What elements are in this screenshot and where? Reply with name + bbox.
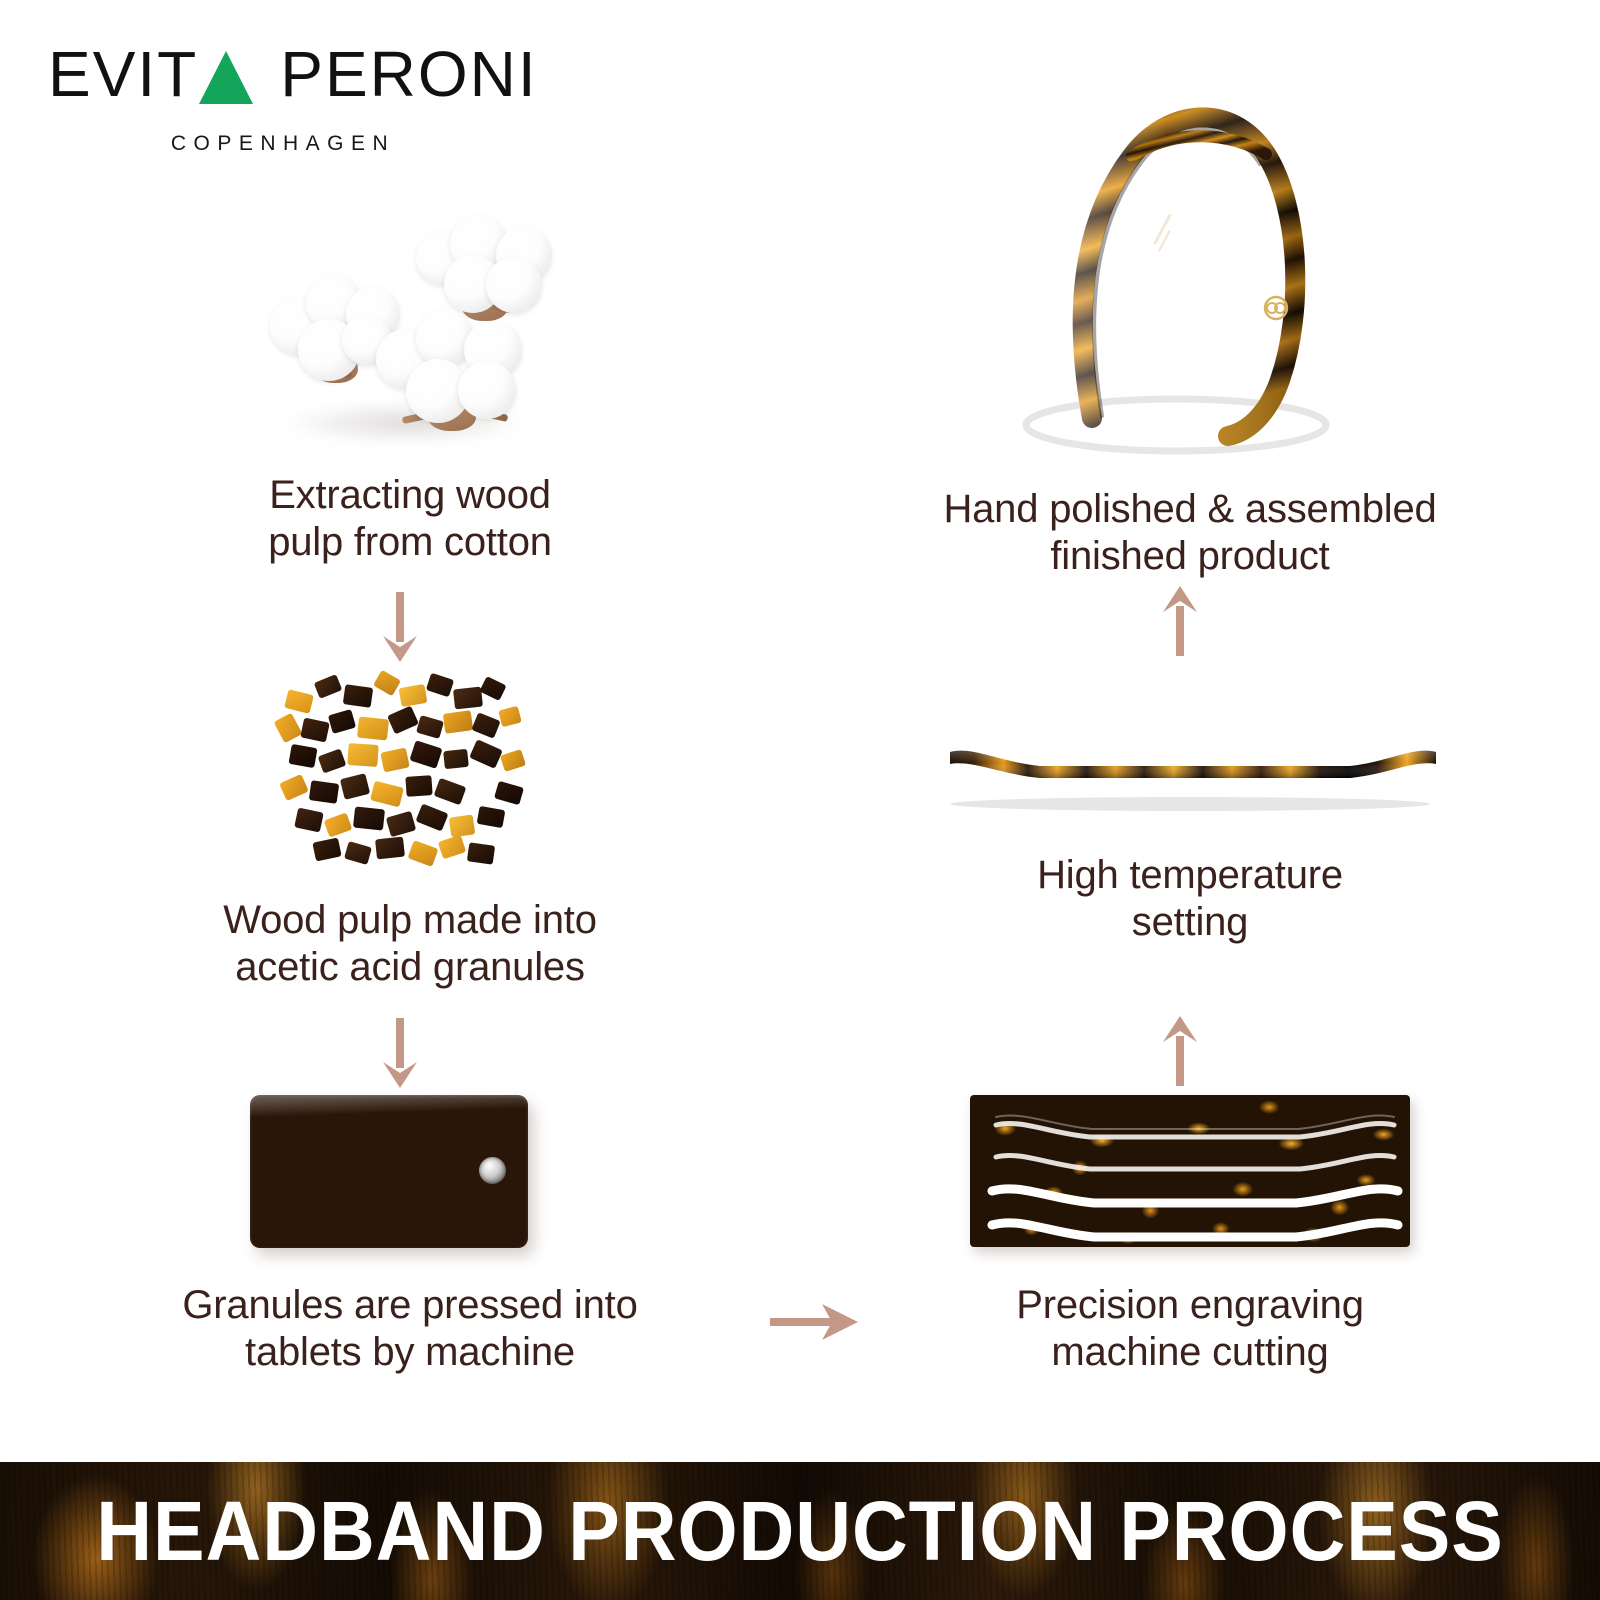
granule xyxy=(453,687,483,710)
headband-blank xyxy=(920,700,1460,820)
granule xyxy=(284,689,314,714)
flat-headband-blank-image xyxy=(920,700,1460,820)
step-5-high-temperature-setting: High temperature setting xyxy=(840,700,1540,946)
granule xyxy=(347,743,378,767)
step-2-caption: Wood pulp made into acetic acid granules xyxy=(60,897,760,991)
arrow-up-icon xyxy=(1158,1014,1202,1086)
step-4-caption: Precision engraving machine cutting xyxy=(840,1282,1540,1376)
granule xyxy=(300,718,330,743)
granule xyxy=(408,840,439,867)
arrow-1-to-2 xyxy=(378,592,422,669)
step-5-caption: High temperature setting xyxy=(840,852,1540,946)
cotton-bolls-image xyxy=(268,215,558,450)
step-3-pressed-tablets: Granules are pressed into tablets by mac… xyxy=(60,1095,760,1376)
granule xyxy=(426,673,454,698)
green-triangle-icon xyxy=(199,51,253,104)
granule xyxy=(328,709,356,734)
granule xyxy=(375,837,405,860)
granule xyxy=(312,838,341,862)
granule xyxy=(405,775,432,797)
step-2-acetic-acid-granules: Wood pulp made into acetic acid granules xyxy=(60,660,760,991)
engraved-mark xyxy=(1153,214,1172,253)
granule xyxy=(318,748,347,773)
finished-headband-image xyxy=(980,80,1400,470)
tortoise-tablet-image xyxy=(250,1095,528,1248)
granule xyxy=(471,712,500,739)
granule xyxy=(466,774,493,798)
granule xyxy=(494,781,524,805)
step-6-caption: Hand polished & assembled finished produ… xyxy=(840,486,1540,580)
granule xyxy=(434,778,467,805)
brand-wordmark: EVIT PERONI xyxy=(48,40,478,106)
granule xyxy=(344,841,372,865)
step-1-caption: Extracting wood pulp from cotton xyxy=(60,472,760,566)
granule xyxy=(353,806,385,830)
granule xyxy=(294,808,324,833)
cotton-boll xyxy=(376,307,536,435)
granule xyxy=(500,749,526,772)
granule xyxy=(279,774,309,801)
arrow-4-to-5 xyxy=(1158,1014,1202,1091)
granule xyxy=(386,811,417,837)
granule xyxy=(274,713,303,744)
arrow-2-to-3 xyxy=(378,1018,422,1095)
step-3-caption: Granules are pressed into tablets by mac… xyxy=(60,1282,760,1376)
arrow-down-icon xyxy=(378,1018,422,1090)
brand-medallion-icon xyxy=(1265,297,1287,319)
granule xyxy=(373,670,401,697)
granule xyxy=(469,739,503,769)
granule xyxy=(343,684,374,708)
granule xyxy=(449,814,476,837)
granule xyxy=(498,706,522,727)
granule xyxy=(415,803,448,831)
granule xyxy=(438,835,466,860)
brand-word-evit: EVIT xyxy=(48,42,198,106)
granule xyxy=(409,740,442,769)
arrow-5-to-6 xyxy=(1158,584,1202,661)
brand-tagline: COPENHAGEN xyxy=(48,132,478,156)
granule xyxy=(340,773,370,800)
bottom-banner: HEADBAND PRODUCTION PROCESS xyxy=(0,1462,1600,1600)
granule xyxy=(370,781,404,808)
step-1-extracting-wood-pulp: Extracting wood pulp from cotton xyxy=(60,215,760,566)
granule xyxy=(380,748,410,773)
brand-logo: EVIT PERONI COPENHAGEN xyxy=(48,40,478,156)
granule xyxy=(314,674,343,699)
granule xyxy=(479,676,506,701)
granule xyxy=(288,744,317,768)
granule xyxy=(324,812,353,837)
granule xyxy=(467,842,495,864)
acetate-granules-image xyxy=(272,660,532,875)
granule xyxy=(387,706,419,735)
brand-word-peroni: PERONI xyxy=(280,42,537,106)
granule xyxy=(443,749,469,769)
headband-3d xyxy=(980,80,1400,470)
engraved-sheet-image xyxy=(970,1095,1410,1250)
granule xyxy=(357,716,389,740)
arrow-down-icon xyxy=(378,592,422,664)
granule xyxy=(399,684,428,707)
granule xyxy=(443,710,474,734)
cut-contours xyxy=(970,1095,1410,1250)
banner-title: HEADBAND PRODUCTION PROCESS xyxy=(64,1462,1536,1600)
granule xyxy=(416,715,444,739)
step-6-finished-product: Hand polished & assembled finished produ… xyxy=(840,80,1540,580)
arrow-up-icon xyxy=(1158,584,1202,656)
granule xyxy=(477,806,506,828)
granule xyxy=(309,780,340,804)
tablet-gloss xyxy=(250,1095,528,1248)
step-4-precision-engraving: Precision engraving machine cutting xyxy=(840,1095,1540,1376)
